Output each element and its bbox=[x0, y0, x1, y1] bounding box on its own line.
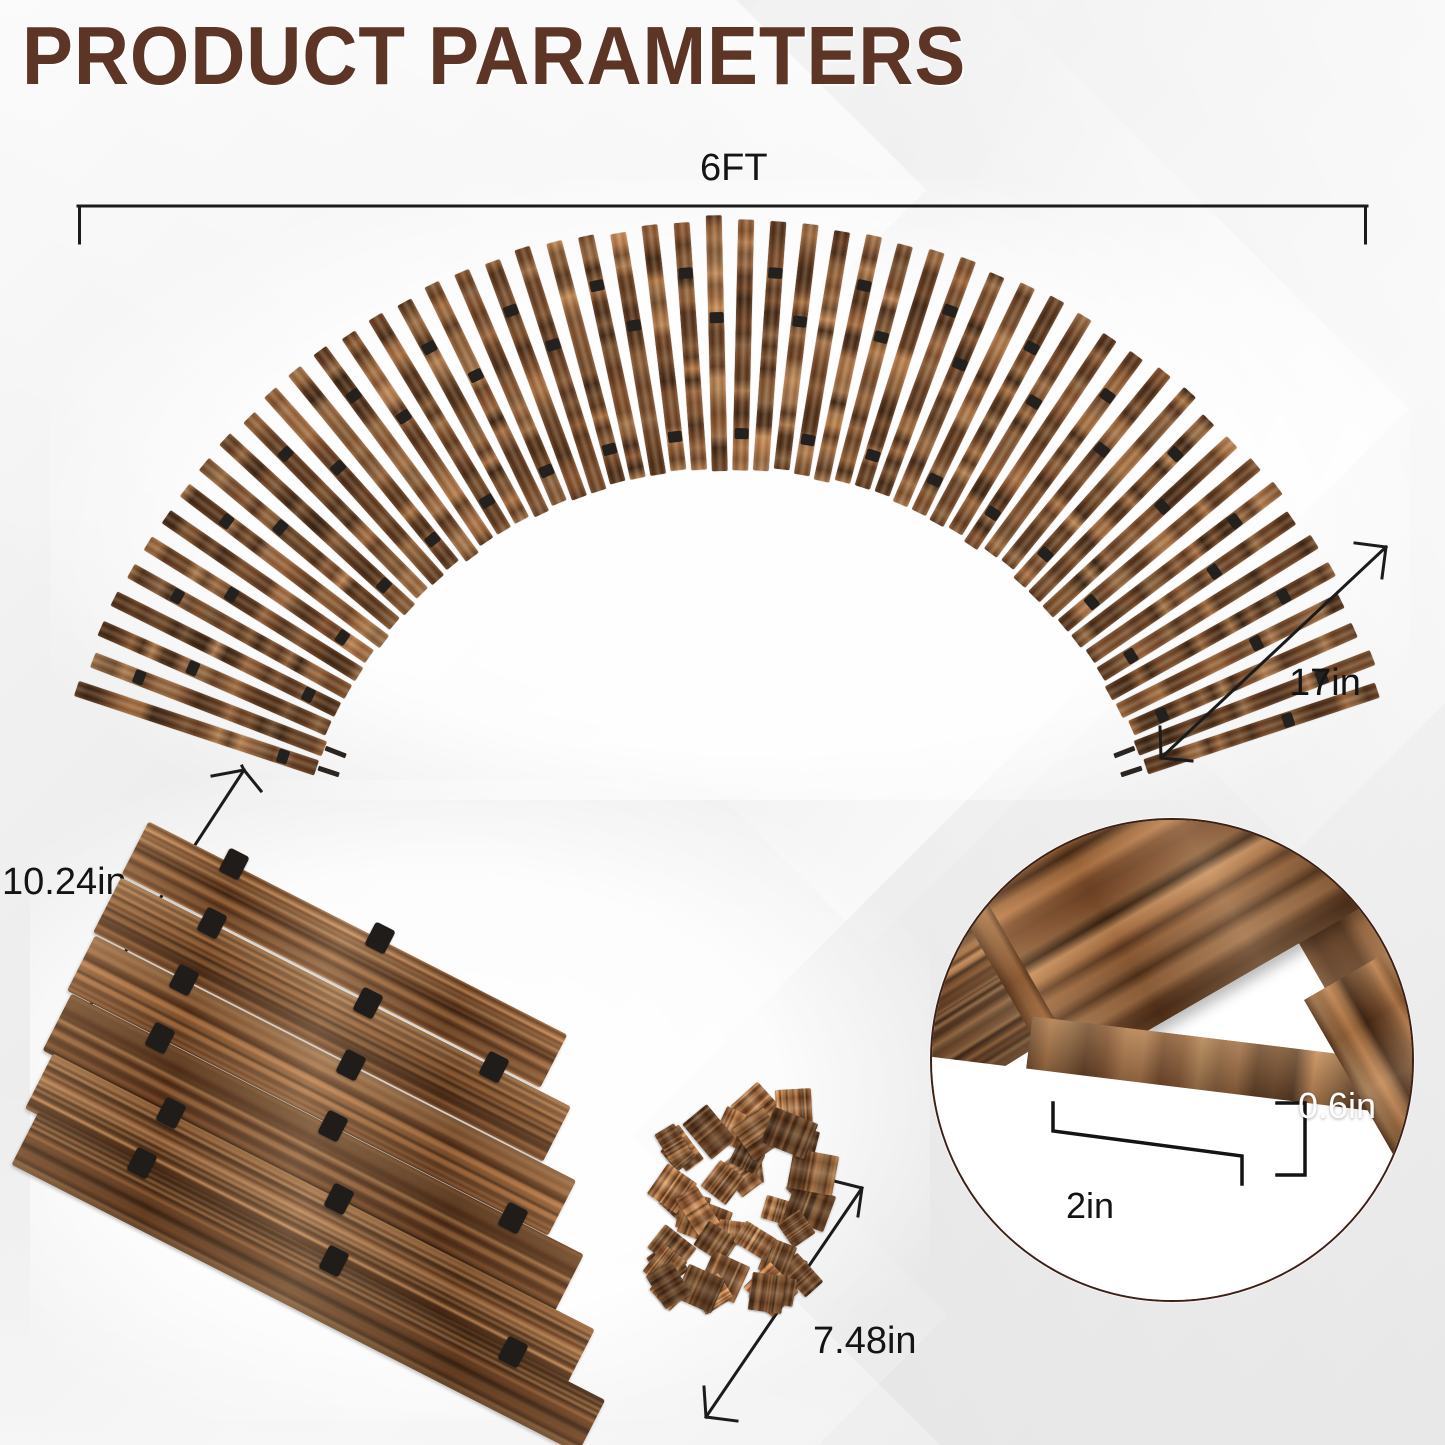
slat-connector-peg bbox=[678, 267, 693, 279]
end-cap-nub bbox=[317, 766, 339, 778]
infographic-canvas: PRODUCT PARAMETERS bbox=[0, 0, 1445, 1445]
end-cap-nub bbox=[1120, 766, 1142, 778]
bundle-slat-end bbox=[747, 1272, 786, 1315]
width-dim-label: 17in bbox=[1289, 662, 1361, 705]
end-cap-nub bbox=[324, 746, 346, 759]
rolled-width-dim-label: 7.48in bbox=[813, 1320, 917, 1363]
rolled-bundle-figure bbox=[95, 800, 855, 1370]
slat-connector-peg bbox=[734, 428, 748, 439]
end-cap-nub bbox=[1113, 746, 1135, 759]
slat-connector-peg bbox=[667, 430, 682, 443]
length-dim-label: 6FT bbox=[700, 147, 768, 190]
slat-connector-peg bbox=[792, 315, 807, 328]
slat-connector-peg bbox=[767, 267, 782, 279]
slat-closeup-circle bbox=[930, 818, 1414, 1302]
slat-connector-peg bbox=[626, 319, 642, 332]
slat-thickness-dim-label: 0.6in bbox=[1298, 1085, 1376, 1127]
walkway-slat bbox=[706, 215, 728, 471]
slat-connector-peg bbox=[709, 312, 723, 323]
slat-connector-peg bbox=[800, 433, 816, 446]
curved-walkway-figure bbox=[0, 0, 1445, 800]
rolled-height-dim-label: 10.24in bbox=[2, 861, 127, 904]
slat-width-dim-label: 2in bbox=[1066, 1185, 1114, 1227]
